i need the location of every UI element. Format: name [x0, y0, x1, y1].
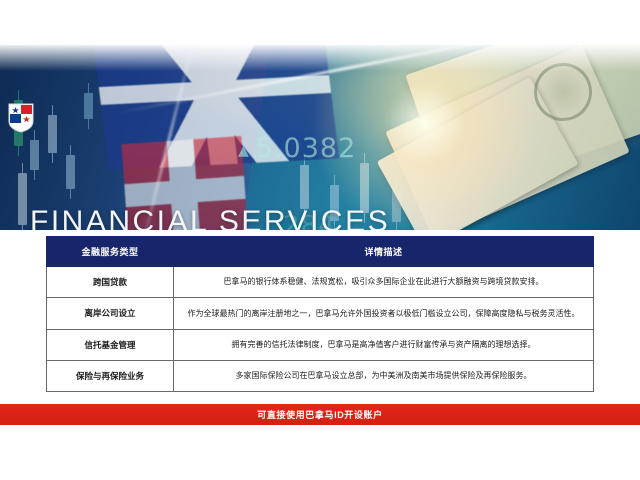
- cell-service-type: 保险与再保险业务: [47, 360, 174, 391]
- cell-description: 作为全球最热门的离岸注册地之一，巴拿马允许外国投资者以极低门槛设立公司，保障高度…: [174, 298, 594, 329]
- candle-6: [300, 165, 309, 209]
- ticker-up-arrow-icon: ▲: [238, 143, 250, 159]
- cell-description: 拥有完善的信托法律制度，巴拿马是高净值客户进行财富传承与资产隔离的理想选择。: [174, 329, 594, 360]
- table-header-row: 金融服务类型 详情描述: [47, 237, 594, 267]
- table-row: 离岸公司设立 作为全球最热门的离岸注册地之一，巴拿马允许外国投资者以极低门槛设立…: [47, 298, 594, 329]
- ticker-number: 5.0382: [256, 133, 356, 164]
- cell-service-type: 跨国贷款: [47, 267, 174, 298]
- banner-text: 可直接使用巴拿马ID开设账户: [257, 408, 382, 421]
- cell-description: 巴拿马的银行体系稳健、法规宽松，吸引众多国际企业在此进行大额融资与跨境贷款安排。: [174, 267, 594, 298]
- financial-services-table: 金融服务类型 详情描述 跨国贷款 巴拿马的银行体系稳健、法规宽松，吸引众多国际企…: [46, 236, 594, 392]
- candle-4: [18, 173, 27, 225]
- table-row: 信托基金管理 拥有完善的信托法律制度，巴拿马是高净值客户进行财富传承与资产隔离的…: [47, 329, 594, 360]
- hero-top-fade: [0, 45, 640, 71]
- table-row: 跨国贷款 巴拿马的银行体系稳健、法规宽松，吸引众多国际企业在此进行大额融资与跨境…: [47, 267, 594, 298]
- column-header-description: 详情描述: [174, 237, 594, 267]
- column-header-service-type: 金融服务类型: [47, 237, 174, 267]
- candle-5: [84, 93, 93, 119]
- page-title: FINANCIAL SERVICES: [30, 205, 390, 230]
- cell-description: 多家国际保险公司在巴拿马设立总部，为中美洲及南美市场提供保险及再保险服务。: [174, 360, 594, 391]
- panama-shield-logo: [8, 103, 34, 133]
- candle-3: [66, 155, 75, 189]
- table-row: 保险与再保险业务 多家国际保险公司在巴拿马设立总部，为中美洲及南美市场提供保险及…: [47, 360, 594, 391]
- cell-service-type: 离岸公司设立: [47, 298, 174, 329]
- bottom-callout-banner: 可直接使用巴拿马ID开设账户: [0, 404, 640, 425]
- ticker-value-primary: ▲5.0382: [238, 133, 356, 164]
- candle-1: [30, 140, 39, 170]
- candle-2: [48, 115, 57, 153]
- cell-service-type: 信托基金管理: [47, 329, 174, 360]
- slide-root: ▲5.0382 284 FINANCIAL SERVICES 金融服务: [0, 0, 640, 480]
- hero-banner: ▲5.0382 284 FINANCIAL SERVICES 金融服务: [0, 45, 640, 230]
- banknotes-image: [320, 45, 640, 230]
